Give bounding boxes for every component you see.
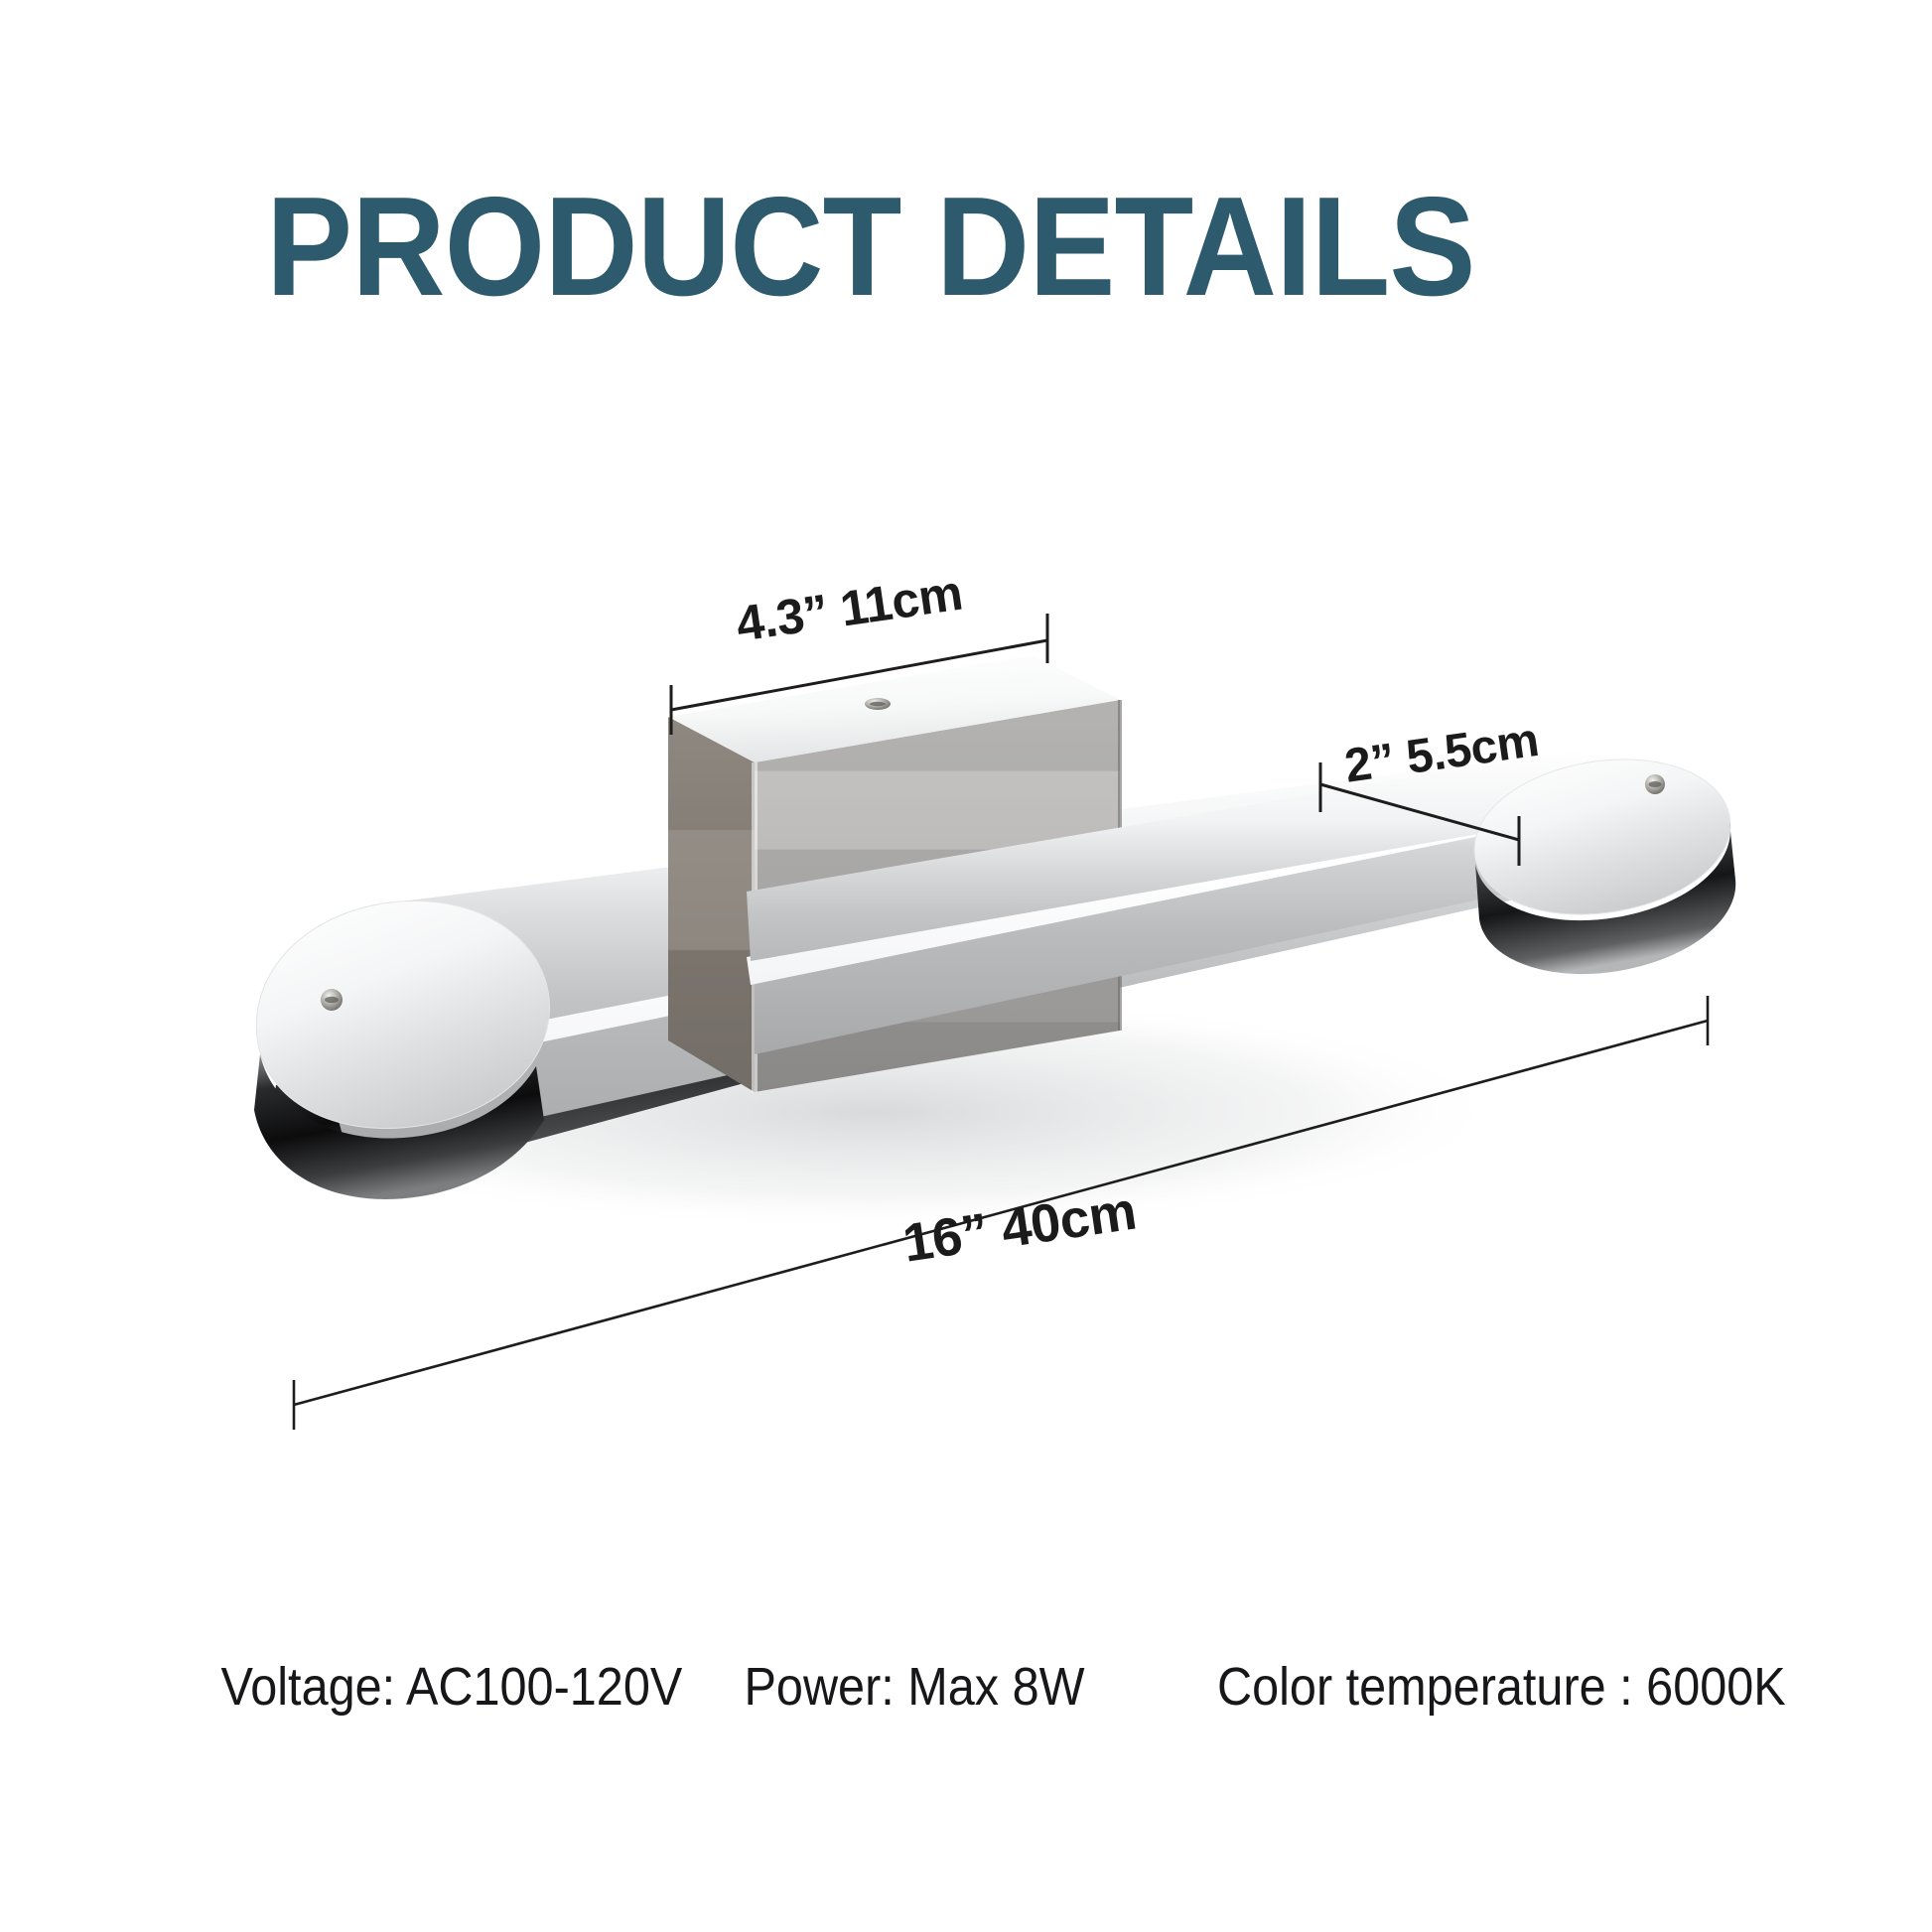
right-end-cap-screw — [1645, 774, 1665, 794]
light-bar-front-top — [747, 754, 1668, 961]
left-end-cap-skirt — [275, 1056, 467, 1185]
mount-box-top-face — [668, 655, 1120, 762]
left-end-cap-screw — [321, 989, 343, 1011]
dimension-label-bar-length: 16” 40cm — [899, 1180, 1141, 1275]
led-diffuser-strip — [320, 790, 1630, 1086]
page-title: PRODUCT DETAILS — [266, 177, 1475, 318]
light-bar-skirt — [328, 816, 1648, 1160]
mount-box-front-face — [755, 700, 1120, 1092]
light-bar-top-face — [298, 754, 1668, 1062]
left-end-cap-top — [256, 901, 549, 1129]
left-bar-skirt — [349, 953, 923, 1184]
right-end-cap-screw-slot — [1649, 781, 1662, 787]
right-end-cap-edge — [1475, 822, 1735, 974]
mount-box-left-face — [668, 717, 755, 1092]
light-bar-front-led — [747, 776, 1644, 985]
left-end-cap-screw-slot — [325, 997, 339, 1003]
mount-box-corner-highlight — [752, 762, 758, 1092]
light-bar-front-section — [747, 754, 1668, 1054]
right-end-cap-top — [1474, 759, 1730, 914]
spec-power: Power: Max 8W — [745, 1656, 1165, 1718]
spec-voltage: Voltage: AC100-120V — [221, 1656, 695, 1718]
left-end-cap — [254, 901, 549, 1199]
product-shadow — [238, 993, 1509, 1231]
mount-box-right-edge — [1118, 700, 1122, 1031]
dimension-label-mount-depth: 4.3” 11cm — [733, 564, 966, 653]
mount-box-top-screw-slot — [870, 702, 886, 706]
mount-box-top-screw — [865, 698, 891, 710]
spec-color-temperature: Color temperature : 6000K — [1217, 1656, 1753, 1718]
left-end-cap-edge — [254, 1054, 544, 1199]
light-bar-front-skirt — [755, 802, 1656, 1054]
specifications-row: Voltage: AC100-120V Power: Max 8W Color … — [195, 1656, 1783, 1718]
dimension-label-bar-width: 2” 5.5cm — [1341, 713, 1542, 794]
right-end-cap — [1474, 759, 1735, 974]
wall-mount-box — [668, 655, 1122, 1092]
product-details-page: PRODUCT DETAILS — [0, 0, 1932, 1932]
light-bar-left-section — [275, 953, 923, 1185]
